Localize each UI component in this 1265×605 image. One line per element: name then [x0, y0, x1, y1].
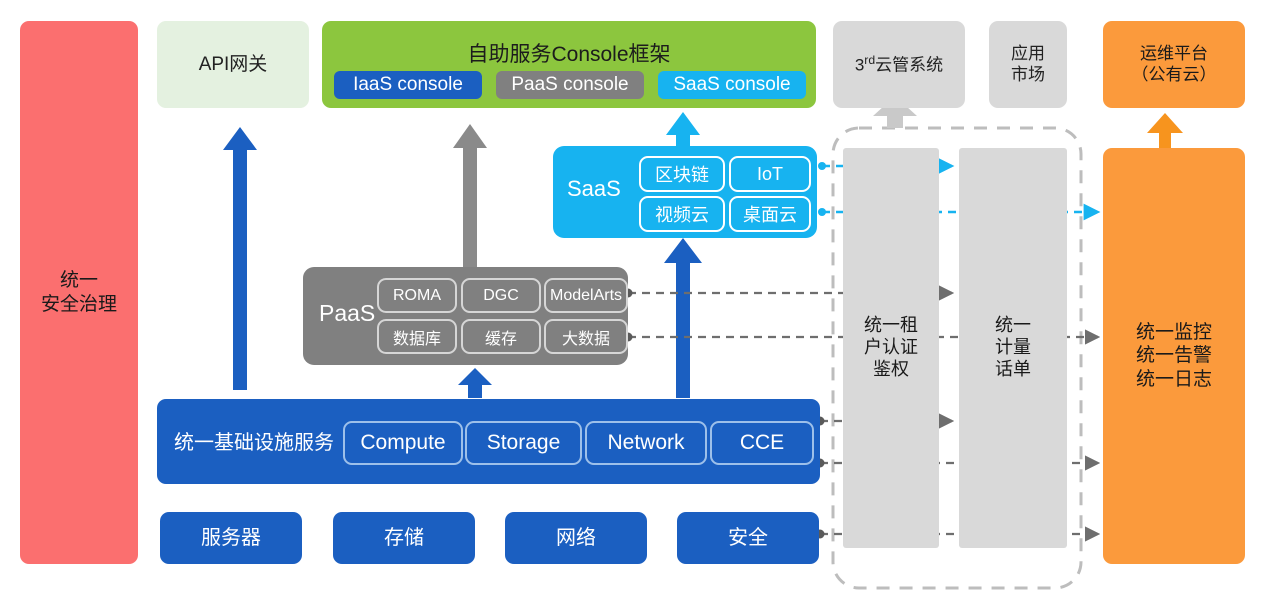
ops-center-line3: 统一日志	[1136, 368, 1212, 391]
ops-center-line1: 统一监控	[1136, 321, 1212, 344]
chip-storage[interactable]: Storage	[465, 421, 582, 465]
resource-box-security[interactable]: 安全	[677, 512, 819, 564]
ops-center-line2: 统一告警	[1136, 344, 1212, 367]
third-party-label: 3rd云管系统	[855, 53, 943, 76]
ops-platform-box[interactable]: 运维平台 （公有云）	[1103, 21, 1245, 108]
chip-modelarts[interactable]: ModelArts	[544, 278, 628, 313]
chip-cache[interactable]: 缓存	[461, 319, 541, 354]
console-title: 自助服务Console框架	[322, 38, 816, 68]
chip-network[interactable]: Network	[585, 421, 707, 465]
infrastructure-label: 统一基础设施服务	[174, 426, 334, 455]
unified-metering-billing-column[interactable]: 统一 计量 话单	[959, 148, 1067, 548]
ops-platform-line1: 运维平台	[1140, 44, 1208, 65]
third-party-prefix: 3	[855, 55, 864, 74]
auth-line1: 统一租	[864, 315, 918, 337]
chip-roma[interactable]: ROMA	[377, 278, 457, 313]
resource-box-storage[interactable]: 存储	[333, 512, 475, 564]
api-gateway-box[interactable]: API网关	[157, 21, 309, 108]
third-party-cloud-mgmt-box[interactable]: 3rd云管系统	[833, 21, 965, 108]
api-gateway-label: API网关	[199, 53, 268, 76]
chip-dgc[interactable]: DGC	[461, 278, 541, 313]
metering-line1: 统一	[995, 315, 1031, 337]
app-market-line1: 应用	[1011, 44, 1045, 65]
app-market-line2: 市场	[1011, 65, 1045, 86]
chip-paas-console[interactable]: PaaS console	[496, 71, 644, 99]
unified-infrastructure-panel[interactable]: 统一基础设施服务 Compute Storage Network CCE	[157, 399, 820, 484]
security-panel-line2: 安全治理	[41, 293, 117, 316]
self-service-console-panel[interactable]: 自助服务Console框架 IaaS console PaaS console …	[322, 21, 816, 108]
paas-panel[interactable]: PaaS ROMA DGC ModelArts 数据库 缓存 大数据	[303, 267, 628, 365]
paas-label: PaaS	[319, 300, 375, 327]
chip-desktop-cloud[interactable]: 桌面云	[729, 196, 811, 232]
chip-blockchain[interactable]: 区块链	[639, 156, 725, 192]
resource-box-server[interactable]: 服务器	[160, 512, 302, 564]
arrow-infra-to-saas	[664, 238, 702, 398]
saas-panel[interactable]: SaaS 区块链 IoT 视频云 桌面云	[553, 146, 817, 238]
arrow-ops-center-to-platform	[1147, 113, 1183, 148]
dot-saas-row1	[818, 162, 826, 170]
chip-compute[interactable]: Compute	[343, 421, 463, 465]
resource-box-network[interactable]: 网络	[505, 512, 647, 564]
chip-database[interactable]: 数据库	[377, 319, 457, 354]
ops-platform-line2: （公有云）	[1132, 65, 1217, 86]
chip-cce[interactable]: CCE	[710, 421, 814, 465]
unified-security-governance-panel[interactable]: 统一 安全治理	[20, 21, 138, 564]
architecture-diagram: 统一 安全治理 API网关 自助服务Console框架 IaaS console…	[0, 0, 1265, 605]
chip-video-cloud[interactable]: 视频云	[639, 196, 725, 232]
ops-center-panel[interactable]: 统一监控 统一告警 统一日志	[1103, 148, 1245, 564]
metering-line3: 话单	[995, 359, 1031, 381]
arrow-infra-to-api-gateway	[223, 127, 257, 390]
app-market-box[interactable]: 应用 市场	[989, 21, 1067, 108]
auth-line2: 户认证	[864, 337, 918, 359]
auth-line3: 鉴权	[873, 359, 909, 381]
arrow-infra-to-paas	[458, 368, 492, 398]
metering-line2: 计量	[995, 337, 1031, 359]
security-panel-line1: 统一	[60, 269, 98, 292]
saas-label: SaaS	[567, 176, 621, 202]
chip-saas-console[interactable]: SaaS console	[658, 71, 806, 99]
third-party-suffix: 云管系统	[875, 55, 943, 74]
third-party-sup: rd	[864, 53, 875, 67]
chip-iaas-console[interactable]: IaaS console	[334, 71, 482, 99]
dot-saas-row2	[818, 208, 826, 216]
unified-tenant-auth-column[interactable]: 统一租 户认证 鉴权	[843, 148, 939, 548]
arrow-saas-to-console	[666, 112, 700, 150]
chip-bigdata[interactable]: 大数据	[544, 319, 628, 354]
arrow-paas-to-console	[453, 124, 487, 270]
chip-iot[interactable]: IoT	[729, 156, 811, 192]
